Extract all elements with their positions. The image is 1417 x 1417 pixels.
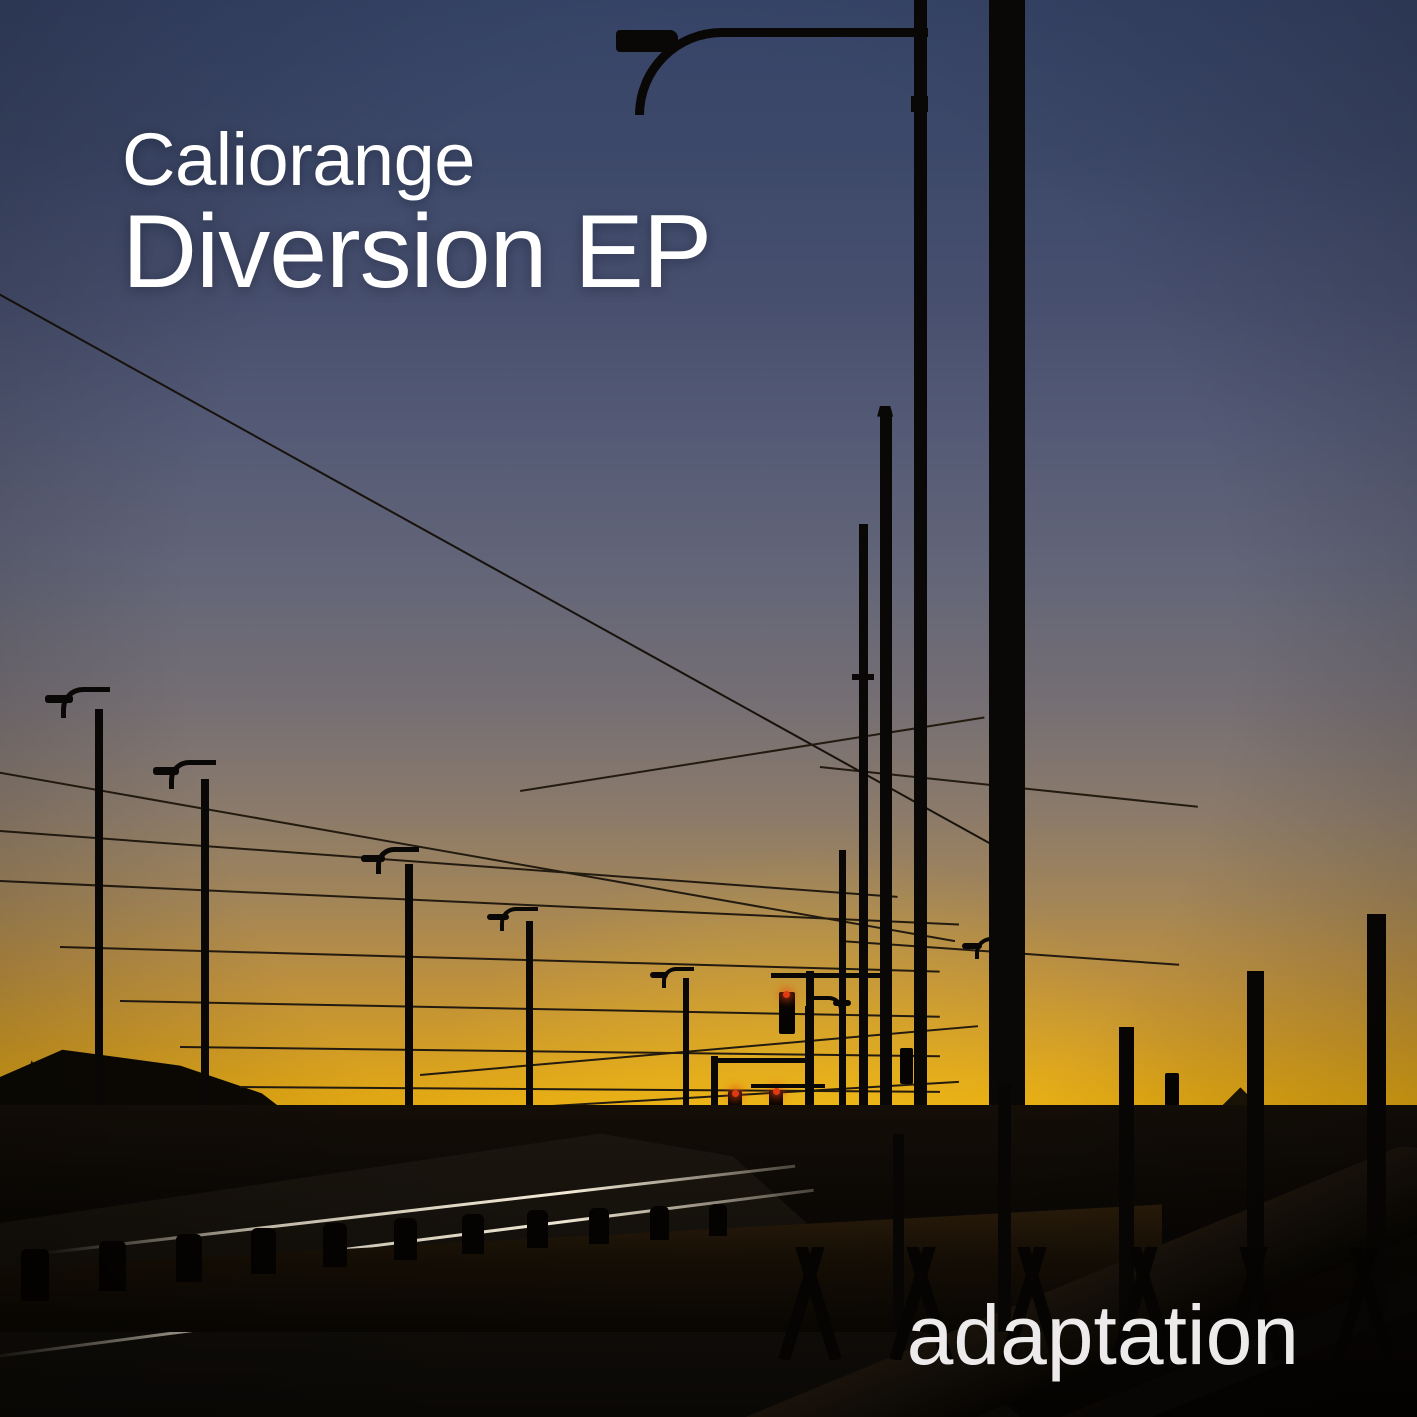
signal-mast-arm-right xyxy=(771,973,881,978)
tall-foreground-lamp-arm xyxy=(635,28,928,115)
barrier-post xyxy=(394,1218,417,1260)
barrier-post xyxy=(462,1214,484,1254)
label-logo-adaptation: adaptation xyxy=(907,1293,1299,1377)
album-title: Diversion EP xyxy=(122,198,711,307)
artist-name: Caliorange xyxy=(122,126,711,194)
signal-head-right-high xyxy=(779,992,795,1034)
signal-red-lamp-right-high xyxy=(783,991,790,998)
barrier-post xyxy=(251,1228,276,1274)
signal-head-far-right-a xyxy=(900,1048,913,1084)
barrier-post xyxy=(99,1241,126,1291)
tall-foreground-lamp-collar xyxy=(911,96,928,112)
street-lamp-center-head xyxy=(487,914,509,920)
signal-red-lamp-left-1 xyxy=(732,1090,739,1097)
mid-pole-b-bracket xyxy=(852,674,874,680)
barrier-post xyxy=(709,1204,727,1236)
barrier-post xyxy=(21,1249,49,1301)
street-lamp-left-far-head xyxy=(45,695,73,703)
street-lamp-left-near-head xyxy=(153,767,179,775)
barrier-post xyxy=(650,1206,669,1240)
tall-foreground-lamp-head xyxy=(616,30,678,52)
barrier-post xyxy=(527,1210,548,1248)
street-lamp-inner-head xyxy=(650,972,668,978)
street-lamp-mid-head xyxy=(361,855,385,862)
street-lamp-left-far-arm xyxy=(61,687,110,718)
street-lamp-far-right-head xyxy=(962,943,982,949)
signal-mast-arm-left xyxy=(714,1058,810,1063)
barrier-post xyxy=(323,1223,347,1267)
album-cover: Caliorange Diversion EP adaptation xyxy=(0,0,1417,1417)
barrier-post xyxy=(176,1234,202,1282)
barrier-post xyxy=(589,1208,609,1244)
title-block: Caliorange Diversion EP xyxy=(122,126,711,307)
